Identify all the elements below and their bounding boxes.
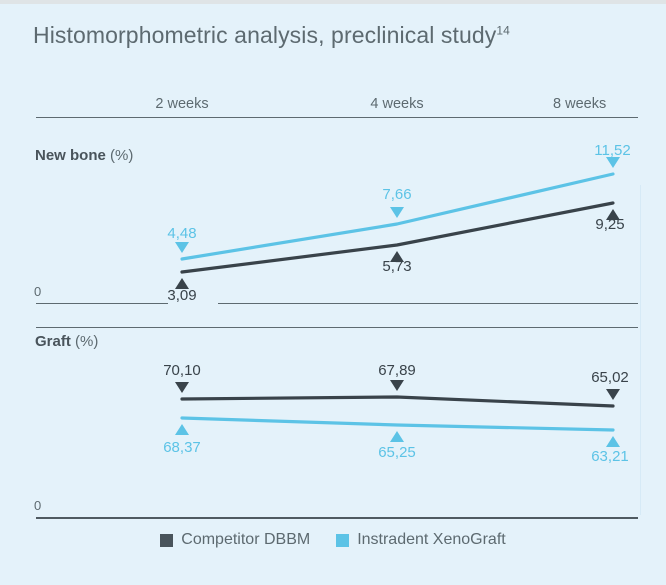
chart-legend: Competitor DBBM Instradent XenoGraft xyxy=(0,531,666,549)
graft-xenograft-line xyxy=(182,418,613,430)
panel-label-new-bone-name: New bone xyxy=(35,147,106,164)
graft-competitor-value-8w: 65,02 xyxy=(570,369,650,386)
panel-label-new-bone-unit: (%) xyxy=(110,147,133,164)
column-header-4-weeks: 4 weeks xyxy=(337,96,457,112)
new-bone-xenograft-value-2w: 4,48 xyxy=(142,225,222,242)
new-bone-competitor-value-4w: 5,73 xyxy=(357,258,437,275)
legend-label-competitor: Competitor DBBM xyxy=(181,531,310,549)
graft-xenograft-marker-8w xyxy=(606,436,620,447)
legend-swatch-competitor-icon xyxy=(160,534,173,547)
legend-item-xenograft[interactable]: Instradent XenoGraft xyxy=(336,531,506,549)
page-title-text: Histomorphometric analysis, preclinical … xyxy=(33,22,496,48)
new-bone-xenograft-marker-2w xyxy=(175,242,189,253)
graft-divider-rule xyxy=(36,327,638,328)
page-title-superscript: 14 xyxy=(496,23,510,37)
graft-xenograft-marker-2w xyxy=(175,424,189,435)
new-bone-baseline-right xyxy=(218,303,638,304)
chart-figure: Histomorphometric analysis, preclinical … xyxy=(0,0,666,585)
new-bone-xenograft-value-4w: 7,66 xyxy=(357,186,437,203)
page-title: Histomorphometric analysis, preclinical … xyxy=(33,22,510,49)
panel-label-new-bone: New bone (%) xyxy=(35,147,133,164)
new-bone-zero-label: 0 xyxy=(34,284,41,299)
graft-zero-label: 0 xyxy=(34,498,41,513)
right-vertical-rule xyxy=(640,185,641,515)
graft-xenograft-marker-4w xyxy=(390,431,404,442)
graft-xenograft-value-4w: 65,25 xyxy=(357,444,437,461)
graft-competitor-value-4w: 67,89 xyxy=(357,362,437,379)
new-bone-xenograft-marker-4w xyxy=(390,207,404,218)
new-bone-competitor-value-2w: 3,09 xyxy=(142,287,222,304)
panel-label-graft-unit: (%) xyxy=(75,333,98,350)
panel-label-graft: Graft (%) xyxy=(35,333,98,350)
top-edge-strip xyxy=(0,0,666,4)
panel-label-graft-name: Graft xyxy=(35,333,71,350)
series-layer xyxy=(0,0,666,585)
graft-competitor-marker-8w xyxy=(606,389,620,400)
legend-item-competitor[interactable]: Competitor DBBM xyxy=(160,531,310,549)
header-divider-rule xyxy=(36,117,638,118)
graft-competitor-marker-2w xyxy=(175,382,189,393)
graft-xenograft-value-8w: 63,21 xyxy=(570,448,650,465)
graft-baseline xyxy=(36,517,638,519)
new-bone-xenograft-value-8w: 11,52 xyxy=(570,142,655,159)
graft-competitor-line xyxy=(182,397,613,406)
column-header-8-weeks: 8 weeks xyxy=(553,96,666,112)
new-bone-competitor-value-8w: 9,25 xyxy=(570,216,650,233)
graft-competitor-marker-4w xyxy=(390,380,404,391)
legend-swatch-xenograft-icon xyxy=(336,534,349,547)
graft-xenograft-value-2w: 68,37 xyxy=(142,439,222,456)
graft-competitor-value-2w: 70,10 xyxy=(142,362,222,379)
legend-label-xenograft: Instradent XenoGraft xyxy=(357,531,506,549)
column-header-2-weeks: 2 weeks xyxy=(122,96,242,112)
